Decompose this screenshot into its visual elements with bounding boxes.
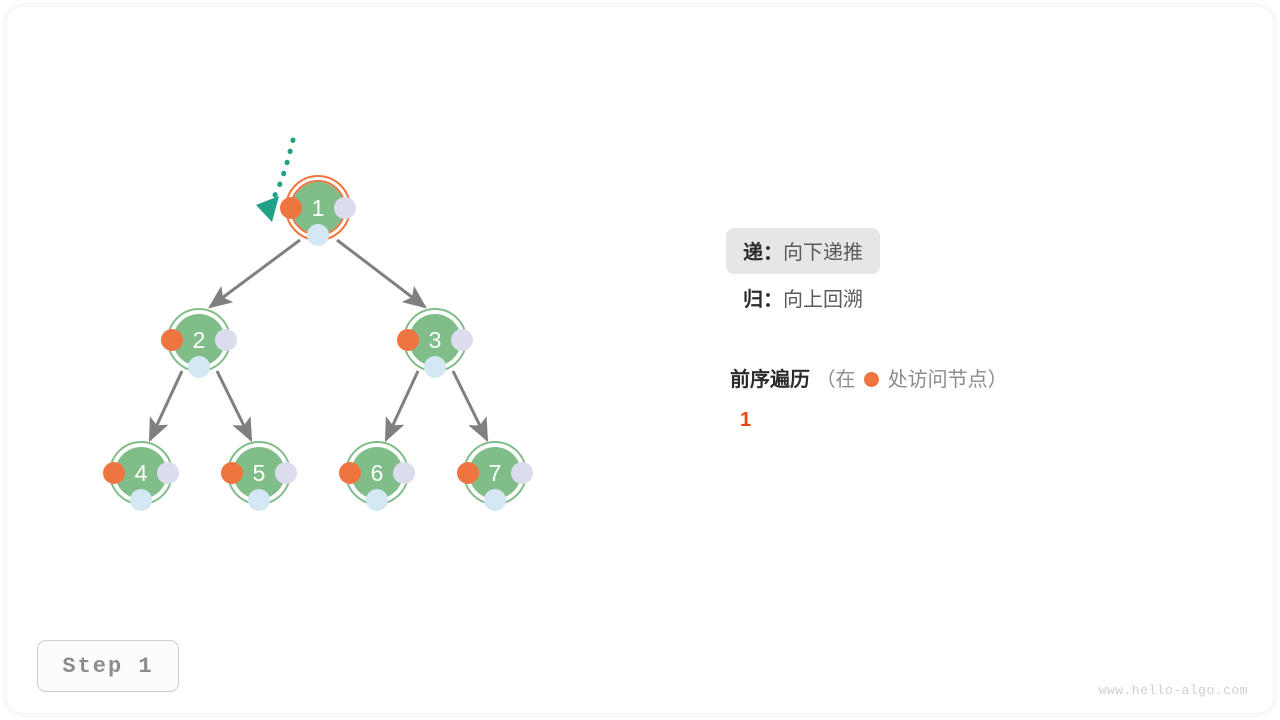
tree-edge <box>150 371 182 440</box>
tree-edge <box>337 240 425 307</box>
illustration-canvas: 1 2 3 4 <box>0 0 1280 720</box>
tree-edge <box>453 371 487 440</box>
legend-recurse: 递：向下递推 <box>726 228 880 274</box>
visited-sequence: 1 <box>740 409 761 432</box>
node-value: 7 <box>469 447 521 499</box>
traversal-heading: 前序遍历 （在 处访问节点） <box>730 363 1008 392</box>
watermark: www.hello-algo.com <box>1099 683 1248 698</box>
legend-recurse-text: 向下递推 <box>783 242 863 264</box>
node-value: 2 <box>173 314 225 366</box>
traversal-note-open: （在 <box>816 369 856 391</box>
step-badge: Step 1 <box>37 640 179 692</box>
node-value: 4 <box>115 447 167 499</box>
tree-edges-layer <box>0 0 700 720</box>
legend-panel: 递：向下递推 归：向上回溯 <box>726 228 1246 321</box>
tree-edge <box>217 371 251 440</box>
legend-backtrack: 归：向上回溯 <box>726 274 1246 321</box>
node-value: 3 <box>409 314 461 366</box>
node-value: 6 <box>351 447 403 499</box>
node-value: 1 <box>292 182 344 234</box>
binary-tree-diagram: 1 2 3 4 <box>0 0 700 720</box>
tree-edge <box>210 240 300 307</box>
traversal-title: 前序遍历 <box>730 369 810 391</box>
traversal-note-close: 处访问节点） <box>888 369 1008 391</box>
step-badge-label: Step 1 <box>62 654 153 679</box>
orange-dot-icon <box>864 372 879 387</box>
tree-edge <box>386 371 418 440</box>
legend-backtrack-text: 向上回溯 <box>783 289 863 311</box>
node-value: 5 <box>233 447 285 499</box>
legend-backtrack-prefix: 归： <box>743 289 783 311</box>
legend-recurse-prefix: 递： <box>743 242 783 264</box>
